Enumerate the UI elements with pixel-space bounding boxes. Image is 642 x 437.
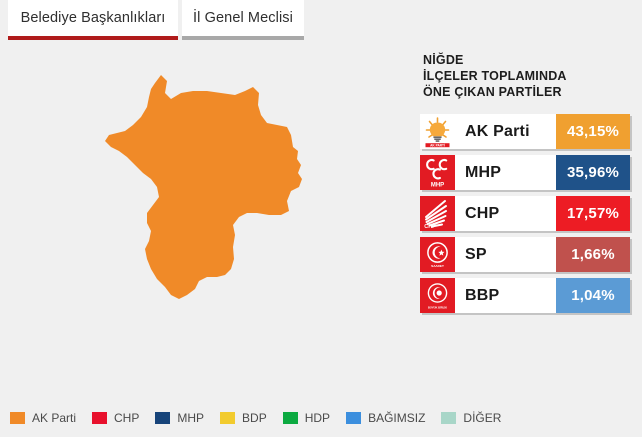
svg-text:SAADET: SAADET [431,264,444,268]
nigde-province-shape[interactable] [105,75,302,299]
svg-text:MHP: MHP [431,183,444,189]
legend-item: HDP [283,411,330,425]
party-percentage: 17,57% [556,196,630,231]
legend-label: BDP [242,411,267,425]
legend-item: CHP [92,411,139,425]
legend-label: CHP [114,411,139,425]
party-row[interactable]: MHP MHP 35,96% [420,155,630,190]
tab-belediye-baskanliklari[interactable]: Belediye Başkanlıkları [8,0,178,40]
party-name: BBP [455,287,556,305]
legend-label: HDP [305,411,330,425]
party-name: SP [455,246,556,264]
legend-label: DİĞER [463,411,501,425]
legend-label: MHP [177,411,204,425]
panel-title-line-2: İLÇELER TOPLAMINDA [423,68,630,84]
legend-swatch-icon [155,412,170,424]
legend-item: AK Parti [10,411,76,425]
legend-swatch-icon [10,412,25,424]
legend-item: BAĞIMSIZ [346,411,425,425]
party-percentage: 1,04% [556,278,630,313]
panel-title-line-1: NİĞDE [423,52,630,68]
legend-swatch-icon [220,412,235,424]
party-row[interactable]: SAADET SP 1,66% [420,237,630,272]
party-name: CHP [455,205,556,223]
party-percentage: 35,96% [556,155,630,190]
party-name: MHP [455,164,556,182]
panel-title: NİĞDE İLÇELER TOPLAMINDA ÖNE ÇIKAN PARTİ… [423,52,630,100]
party-row[interactable]: BÜYÜK BİRLİK BBP 1,04% [420,278,630,313]
party-name: AK Parti [455,123,556,141]
legend-label: BAĞIMSIZ [368,411,425,425]
svg-text:BÜYÜK BİRLİK: BÜYÜK BİRLİK [428,305,447,309]
akparti-lightbulb-icon: AK PARTİ [420,114,455,149]
party-percentage: 1,66% [556,237,630,272]
party-results-list: AK PARTİ AK Parti 43,15% M [420,114,630,313]
election-results-page: Belediye Başkanlıkları İl Genel Meclisi … [0,0,642,437]
tab-il-genel-meclisi[interactable]: İl Genel Meclisi [182,0,304,40]
tab-label: Belediye Başkanlıkları [21,10,166,26]
legend-item: BDP [220,411,267,425]
legend-item: MHP [155,411,204,425]
mhp-three-crescents-icon: MHP [420,155,455,190]
panel-title-line-3: ÖNE ÇIKAN PARTİLER [423,84,630,100]
party-color-legend: AK Parti CHP MHP BDP HDP BAĞIMSIZ DİĞER [10,411,517,425]
legend-swatch-icon [346,412,361,424]
chp-six-arrows-icon: CHP [420,196,455,231]
bbp-crescent-star-icon: BÜYÜK BİRLİK [420,278,455,313]
legend-swatch-icon [92,412,107,424]
legend-item: DİĞER [441,411,501,425]
svg-text:CHP: CHP [424,224,436,230]
sp-crescent-icon: SAADET [420,237,455,272]
party-percentage: 43,15% [556,114,630,149]
tab-label: İl Genel Meclisi [193,10,293,26]
tab-bar: Belediye Başkanlıkları İl Genel Meclisi [0,0,642,40]
results-panel: NİĞDE İLÇELER TOPLAMINDA ÖNE ÇIKAN PARTİ… [420,52,630,319]
legend-label: AK Parti [32,411,76,425]
legend-swatch-icon [283,412,298,424]
legend-swatch-icon [441,412,456,424]
province-map[interactable] [95,55,375,355]
svg-text:AK PARTİ: AK PARTİ [430,143,445,147]
party-row[interactable]: AK PARTİ AK Parti 43,15% [420,114,630,149]
party-row[interactable]: CHP CHP 17,57% [420,196,630,231]
